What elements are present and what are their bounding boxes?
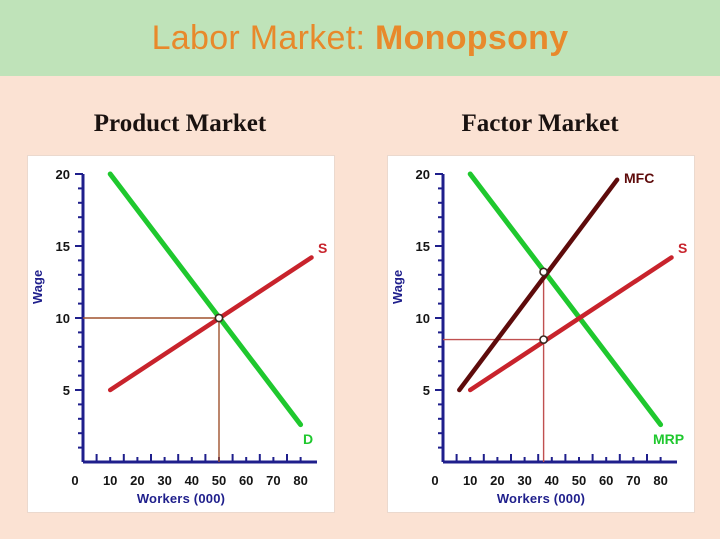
y-tick-label-0-product: 0 xyxy=(71,473,78,488)
plot-svg-product-market: S D 20 15 10 5 0 10 20 30 40 50 60 70 80 xyxy=(28,156,336,514)
x-tick-label-20-factor: 20 xyxy=(490,473,504,488)
monopsony-wage-point-factor xyxy=(540,336,547,343)
chart-product-market: Wage Workers (000) xyxy=(27,155,335,513)
curve-label-demand-product: D xyxy=(303,431,313,447)
x-tick-label-70-product: 70 xyxy=(266,473,280,488)
equilibrium-point-product xyxy=(215,314,222,321)
curve-label-supply-product: S xyxy=(318,240,327,256)
curve-mrp-factor xyxy=(470,174,660,425)
x-tick-label-70-factor: 70 xyxy=(626,473,640,488)
x-tick-label-30-product: 30 xyxy=(157,473,171,488)
y-tick-label-0-factor: 0 xyxy=(431,473,438,488)
x-tick-label-80-factor: 80 xyxy=(653,473,667,488)
x-tick-label-40-product: 40 xyxy=(185,473,199,488)
y-tick-label-15-factor: 15 xyxy=(416,239,430,254)
y-tick-label-15-product: 15 xyxy=(56,239,70,254)
curve-label-supply-factor: S xyxy=(678,240,687,256)
y-tick-label-10-product: 10 xyxy=(56,311,70,326)
x-tick-label-50-product: 50 xyxy=(212,473,226,488)
y-tick-label-20-product: 20 xyxy=(56,167,70,182)
panel-heading-factor-market: Factor Market xyxy=(360,110,720,138)
panel-factor-market: Factor Market Wage Workers (000) xyxy=(360,76,720,539)
title-banner: Labor Market: Monopsony xyxy=(0,0,720,76)
x-tick-label-60-product: 60 xyxy=(239,473,253,488)
curve-supply-product xyxy=(110,258,311,391)
curve-label-mrp-factor: MRP xyxy=(653,431,684,447)
y-tick-label-10-factor: 10 xyxy=(416,311,430,326)
x-tick-label-40-factor: 40 xyxy=(545,473,559,488)
plot-svg-factor-market: MFC S MRP 20 15 10 5 0 10 20 30 40 50 60… xyxy=(388,156,696,514)
curve-mfc-factor xyxy=(459,180,617,390)
page-title: Labor Market: Monopsony xyxy=(152,19,569,58)
monopsony-employment-point-factor xyxy=(540,268,547,275)
x-tick-label-80-product: 80 xyxy=(293,473,307,488)
chart-factor-market: Wage Workers (000) xyxy=(387,155,695,513)
curve-demand-product xyxy=(110,174,300,425)
x-tick-label-10-factor: 10 xyxy=(463,473,477,488)
x-tick-label-10-product: 10 xyxy=(103,473,117,488)
slide-root: { "slide": { "title_prefix": "Labor Mark… xyxy=(0,0,720,539)
y-tick-label-5-product: 5 xyxy=(63,383,70,398)
curve-supply-factor xyxy=(470,258,671,391)
x-tick-label-60-factor: 60 xyxy=(599,473,613,488)
x-tick-label-30-factor: 30 xyxy=(517,473,531,488)
y-tick-label-20-factor: 20 xyxy=(416,167,430,182)
x-tick-label-50-factor: 50 xyxy=(572,473,586,488)
y-tick-label-5-factor: 5 xyxy=(423,383,430,398)
plot-area-product-market: S D 20 15 10 5 0 10 20 30 40 50 60 70 80 xyxy=(28,156,334,512)
page-title-emphasis: Monopsony xyxy=(375,19,568,57)
panel-heading-product-market: Product Market xyxy=(0,110,360,138)
panel-product-market: Product Market Wage Workers (000) xyxy=(0,76,360,539)
curve-label-mfc-factor: MFC xyxy=(624,170,654,186)
plot-area-factor-market: MFC S MRP 20 15 10 5 0 10 20 30 40 50 60… xyxy=(388,156,694,512)
x-tick-label-20-product: 20 xyxy=(130,473,144,488)
page-title-prefix: Labor Market: xyxy=(152,19,375,57)
